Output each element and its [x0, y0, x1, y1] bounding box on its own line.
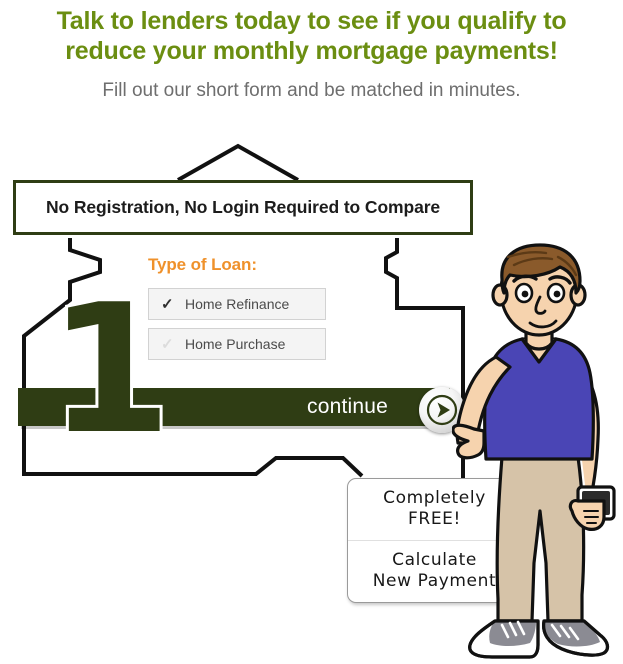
loan-type-form: Type of Loan: ✓ Home Refinance ✓ Home Pu… [148, 255, 338, 368]
continue-label: continue [307, 395, 388, 419]
pointing-man-illustration [452, 243, 623, 664]
loan-option-label: Home Purchase [185, 336, 285, 352]
landing-page-stage: Talk to lenders today to see if you qual… [0, 0, 623, 664]
connector-top-peak [178, 146, 298, 180]
claim-box-text: No Registration, No Login Required to Co… [46, 197, 440, 218]
form-legend: Type of Loan: [148, 255, 338, 275]
loan-option-label: Home Refinance [185, 296, 289, 312]
loan-option-home-purchase[interactable]: ✓ Home Purchase [148, 328, 326, 360]
loan-option-home-refinance[interactable]: ✓ Home Refinance [148, 288, 326, 320]
no-registration-claim-box: No Registration, No Login Required to Co… [13, 180, 473, 235]
check-icon: ✓ [161, 337, 179, 352]
check-icon: ✓ [161, 297, 179, 312]
